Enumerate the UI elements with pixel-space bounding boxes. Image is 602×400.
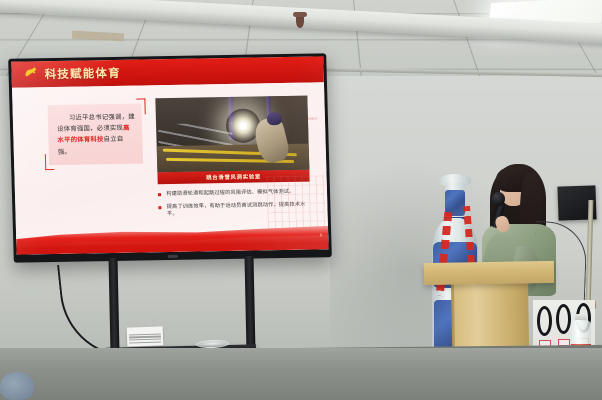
- tv-brand-logo: [168, 255, 178, 258]
- quote-text: 习近平总书记强调，建设体育强国，必须实现高水平的体育科技自立自强。: [57, 112, 136, 158]
- bracket-top-right-icon: [136, 98, 145, 114]
- bracket-bottom-left-icon: [45, 154, 54, 170]
- conference-room-photo: 科技赋能体育 清华大学 TSINGHUA UNIVERSITY 习近平总书记强调…: [0, 0, 602, 400]
- foreground-object: [0, 372, 34, 400]
- coiled-cable[interactable]: [556, 304, 571, 334]
- sprinkler-icon: [296, 15, 304, 28]
- watermark-graphic: [267, 175, 326, 228]
- bullet-square-icon: [158, 193, 161, 196]
- presentation-display[interactable]: 科技赋能体育 清华大学 TSINGHUA UNIVERSITY 习近平总书记强调…: [8, 53, 332, 262]
- instruction-card[interactable]: [127, 326, 164, 346]
- helmet-icon: [267, 112, 282, 125]
- tv-screen: 科技赋能体育 清华大学 TSINGHUA UNIVERSITY 习近平总书记强调…: [11, 56, 328, 254]
- wind-tunnel-photo: [155, 96, 309, 173]
- coiled-cable[interactable]: [537, 306, 552, 336]
- slide-page-number: 8: [320, 232, 322, 237]
- slide-title: 科技赋能体育: [44, 65, 121, 82]
- cpc-party-emblem-icon: [23, 68, 38, 81]
- microphone-icon: [492, 192, 505, 206]
- floor: [0, 348, 602, 400]
- quote-box: 习近平总书记强调，建设体育强国，必须实现高水平的体育科技自立自强。: [47, 103, 143, 165]
- bullet-square-icon: [158, 206, 161, 209]
- slide-body: 清华大学 TSINGHUA UNIVERSITY 习近平总书记强调，建设体育强国…: [12, 82, 329, 254]
